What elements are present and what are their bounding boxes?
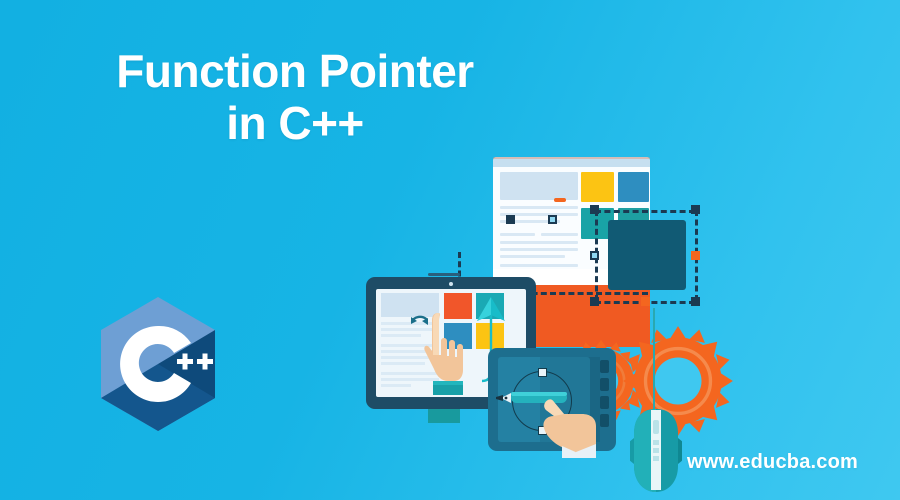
selection-handle-extra-b[interactable] — [506, 215, 515, 224]
website-url: www.educba.com — [687, 451, 858, 474]
web-design-illustration — [380, 140, 780, 480]
selection-edge-top — [595, 210, 695, 213]
selection-frame — [595, 210, 695, 301]
graphics-tablet-button[interactable] — [600, 414, 609, 427]
browser-text-line — [500, 241, 578, 244]
graphics-tablet-button[interactable] — [600, 360, 609, 373]
tablet-speaker — [428, 273, 460, 276]
tablet-text-line — [381, 362, 425, 365]
selection-handle-bottom-left[interactable] — [590, 297, 599, 306]
browser-text-line — [500, 206, 578, 209]
browser-title-bar-highlight — [493, 157, 650, 159]
selection-handle-left-mid[interactable] — [590, 251, 599, 260]
cpp-logo — [97, 295, 219, 433]
graphics-tablet — [488, 348, 616, 451]
selection-handle-right-mid[interactable] — [691, 251, 700, 260]
browser-tile-yellow — [581, 172, 614, 202]
path-node-top[interactable] — [538, 368, 547, 377]
browser-hero-block — [500, 172, 578, 200]
page-title: Function Pointer in C++ — [60, 46, 530, 149]
selection-rotate-tab[interactable] — [554, 198, 566, 202]
browser-text-line — [500, 264, 578, 267]
drawing-hand-icon — [540, 386, 600, 458]
banner-canvas: Function Pointer in C++ — [0, 0, 900, 500]
mouse-cable — [653, 308, 655, 412]
browser-tile-blue — [618, 172, 649, 202]
browser-text-line — [541, 233, 578, 236]
selection-handle-bottom-mid[interactable] — [641, 297, 650, 306]
selection-handle-top-right[interactable] — [691, 205, 700, 214]
tablet-text-line — [381, 384, 411, 387]
selection-handle-bottom-right[interactable] — [691, 297, 700, 306]
browser-title-bar — [493, 157, 650, 167]
graphics-tablet-button[interactable] — [600, 378, 609, 391]
browser-text-line — [500, 233, 535, 236]
computer-mouse-icon — [630, 408, 682, 493]
selection-handle-top-left[interactable] — [590, 205, 599, 214]
graphics-tablet-button[interactable] — [600, 396, 609, 409]
tablet-text-line — [381, 334, 421, 337]
selection-handle-extra-a[interactable] — [548, 215, 557, 224]
pointing-hand-icon — [424, 307, 464, 403]
browser-text-line — [500, 248, 578, 251]
browser-text-line — [500, 255, 565, 258]
tablet-camera — [449, 282, 453, 286]
tablet-wrist-cuff — [428, 409, 460, 423]
title-line-1: Function Pointer — [60, 46, 530, 98]
